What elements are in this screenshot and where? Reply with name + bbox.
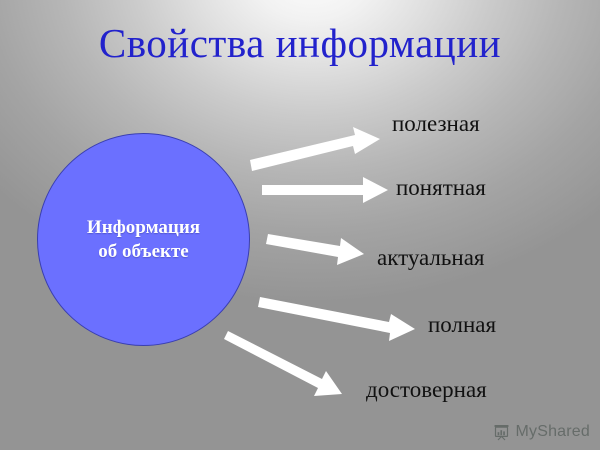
arrow-to-ponyatnaya — [262, 177, 388, 203]
property-label-aktualnaya: актуальная — [377, 246, 485, 269]
arrow-to-polеznaya — [250, 127, 380, 171]
watermark-label: MyShared — [515, 423, 590, 441]
center-node-label: Информация об объекте — [87, 216, 200, 262]
arrow-to-dostovernaya — [224, 331, 342, 396]
watermark: MyShared — [493, 423, 590, 441]
property-label-ponyatnaya: понятная — [396, 176, 486, 199]
center-node-circle: Информация об объекте — [37, 133, 250, 346]
property-label-polеznaya: полезная — [392, 112, 480, 135]
property-label-polnaya: полная — [428, 313, 496, 336]
property-label-dostovernaya: достоверная — [366, 378, 487, 401]
arrow-to-polnaya — [258, 297, 415, 341]
slide-canvas: Свойства информации Информация об объект… — [0, 0, 600, 450]
arrow-to-aktualnaya — [266, 234, 364, 265]
presentation-chart-icon — [493, 424, 510, 441]
